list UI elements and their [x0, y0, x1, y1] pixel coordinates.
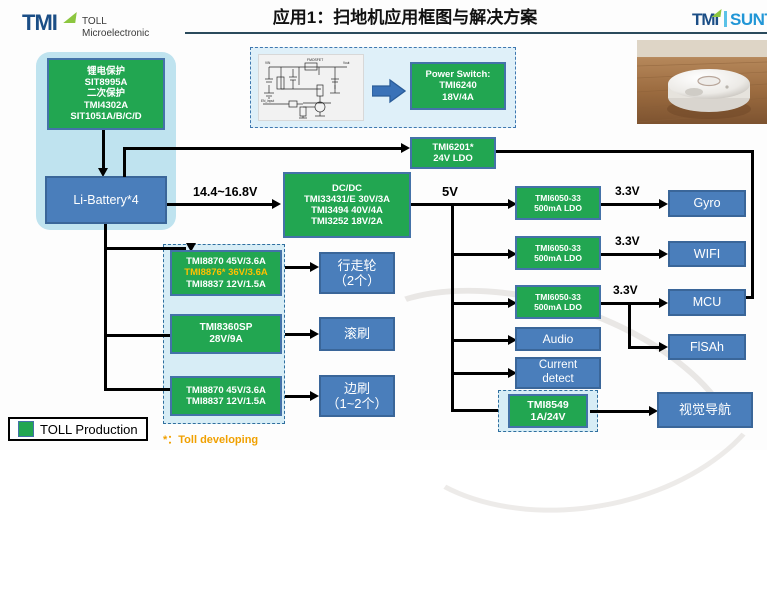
ldo-24v-line-2: 24V LDO	[412, 153, 494, 164]
legend-toll-production: TOLL Production	[8, 417, 148, 441]
logo-left-mark: TMI	[22, 10, 57, 36]
title-rule	[185, 32, 767, 34]
voltage-label-5v: 5V	[442, 184, 458, 199]
load-block-side-brush: 边刷 （1~2个）	[319, 375, 395, 417]
dcdc-line-4: TMI3252 18V/2A	[285, 216, 409, 227]
arrow-to-ldo24	[401, 143, 410, 153]
load-block-mcu: MCU	[668, 289, 746, 316]
vision-driver-line-1: TMI8549	[510, 399, 586, 411]
slide-canvas: 应用1：扫地机应用框图与解决方案 TMI TOLL Microelectroni…	[0, 0, 767, 450]
load-block-wheels: 行走轮 （2个）	[319, 252, 395, 294]
wire-dcdc-5v	[411, 203, 511, 206]
protection-line-4: TMI4302A	[49, 100, 163, 111]
wire-batt-to-dcdc	[167, 203, 274, 206]
protection-line-5: SIT1051A/B/C/D	[49, 111, 163, 122]
wire-5v-to-audio	[451, 339, 511, 342]
load-block-vision-nav: 视觉导航	[657, 392, 753, 428]
wire-ldo24-down	[751, 150, 754, 298]
logo-left-line1: TOLL	[82, 16, 107, 27]
audio-label: Audio	[517, 332, 599, 346]
logo-toll-microelectronic: TMI TOLL Microelectronic	[22, 10, 172, 44]
wheels-line-1: 行走轮	[321, 258, 393, 273]
wire-ldo3-to-mcu	[601, 302, 663, 305]
wire-protection-to-battery	[102, 130, 105, 172]
load-block-gyro: Gyro	[668, 190, 746, 217]
wire-ldo24-right	[496, 150, 754, 153]
driver3-line-2: TMI8837 12V/1.5A	[172, 396, 280, 407]
vision-nav-label: 视觉导航	[659, 402, 751, 417]
wire-batt-to-ldo24	[123, 147, 405, 150]
driver2-line-2: 28V/9A	[172, 334, 280, 346]
wire-3v3-to-flash	[628, 302, 631, 349]
load-block-rolling-brush: 滚刷	[319, 317, 395, 351]
ldo1-line-1: TMI6050-33	[517, 193, 599, 203]
arrow-ldo3-to-mcu	[659, 298, 668, 308]
dcdc-block: DC/DC TMI33431/E 30V/3A TMI3494 40V/4A T…	[283, 172, 411, 238]
wire-driver3-to-load	[285, 395, 313, 398]
flow-arrow-icon	[372, 78, 406, 104]
load-block-flash: FlSAh	[668, 334, 746, 360]
wire-vision-driver-to-load	[590, 410, 652, 413]
block-current-detect: Current detect	[515, 357, 601, 389]
motor-driver-block-2: TMI8360SP 28V/9A	[170, 314, 282, 354]
arrow-ldo2-to-wifi	[659, 249, 668, 259]
logo-right-brand: SUNTO	[730, 10, 767, 30]
ldo1-line-2: 500mA LDO	[517, 203, 599, 213]
rolling-brush-line-1: 滚刷	[321, 326, 393, 341]
wire-batt-up	[123, 147, 126, 177]
page-title: 应用1：扫地机应用框图与解决方案	[190, 6, 620, 30]
wire-flash-branch	[628, 346, 663, 349]
legend-developing-note: *：Toll developing	[163, 431, 258, 447]
voltage-label-3v3-b: 3.3V	[615, 234, 640, 248]
wire-driver1-to-load	[285, 266, 313, 269]
legend-green-swatch	[18, 421, 34, 437]
logo-left-line2: Microelectronic	[82, 28, 149, 39]
motor-driver-block-3: TMI8870 45V/3.6A TMI8837 12V/1.5A	[170, 376, 282, 416]
side-brush-line-2: （1~2个）	[321, 396, 393, 411]
driver2-line-1: TMI8360SP	[172, 322, 280, 334]
vision-driver-block: TMI8549 1A/24V	[508, 394, 588, 428]
power-switch-schematic: FMOSFET VIN Vout EN_input	[258, 54, 364, 121]
mcu-label: MCU	[670, 295, 744, 310]
power-switch-line-3: 18V/4A	[412, 92, 504, 103]
power-switch-chip-block: Power Switch: TMI6240 18V/4A	[410, 62, 506, 110]
ldo-block-2: TMI6050-33 500mA LDO	[515, 236, 601, 270]
wire-5v-to-ldo2	[451, 253, 511, 256]
protection-chip-block: 锂电保护 SIT8995A 二次保护 TMI4302A SIT1051A/B/C…	[47, 58, 165, 130]
wifi-label: WIFI	[670, 247, 744, 262]
svg-text:VIN: VIN	[265, 61, 271, 65]
legend-production-label: TOLL Production	[40, 422, 138, 437]
ldo2-line-1: TMI6050-33	[517, 243, 599, 253]
logo-divider	[724, 11, 727, 27]
robot-vacuum-photo	[637, 40, 767, 124]
arrow-driver2-to-load	[310, 329, 319, 339]
svg-text:Vout: Vout	[343, 61, 349, 65]
flash-label: FlSAh	[670, 340, 744, 355]
power-switch-line-1: Power Switch:	[412, 69, 504, 80]
wire-driver2-to-load	[285, 333, 313, 336]
current-detect-line-2: detect	[517, 373, 599, 387]
dcdc-line-1: DC/DC	[285, 183, 409, 194]
svg-text:EN_input: EN_input	[261, 99, 274, 103]
arrow-to-flash	[659, 342, 668, 352]
leaf-icon-2	[711, 9, 721, 17]
svg-text:FMOSFET: FMOSFET	[307, 58, 323, 62]
dcdc-line-2: TMI33431/E 30V/3A	[285, 194, 409, 205]
arrow-ldo1-to-gyro	[659, 199, 668, 209]
ldo2-line-2: 500mA LDO	[517, 253, 599, 263]
driver3-line-1: TMI8870 45V/3.6A	[172, 385, 280, 396]
arrow-driver1-to-load	[310, 262, 319, 272]
vision-driver-line-2: 1A/24V	[510, 411, 586, 423]
logo-tmi-sunto: TMI SUNTO	[692, 8, 767, 34]
wire-ldo1-to-gyro	[601, 203, 663, 206]
side-brush-line-1: 边刷	[321, 381, 393, 396]
ldo3-line-2: 500mA LDO	[517, 302, 599, 312]
voltage-label-battery-out: 14.4~16.8V	[193, 185, 257, 199]
ldo-24v-line-1: TMI6201*	[412, 142, 494, 153]
driver1-line-1: TMI8870 45V/3.6A	[172, 256, 280, 267]
protection-line-3: 二次保护	[49, 88, 163, 99]
leaf-icon	[63, 12, 77, 23]
wire-5v-bus	[451, 203, 454, 411]
ldo-24v-block: TMI6201* 24V LDO	[410, 137, 496, 169]
dcdc-line-3: TMI3494 40V/4A	[285, 205, 409, 216]
block-audio: Audio	[515, 327, 601, 351]
voltage-label-3v3-a: 3.3V	[615, 184, 640, 198]
arrow-batt-to-dcdc	[272, 199, 281, 209]
protection-line-2: SIT8995A	[49, 77, 163, 88]
arrow-driver3-to-load	[310, 391, 319, 401]
current-detect-line-1: Current	[517, 359, 599, 373]
load-block-wifi: WIFI	[668, 241, 746, 267]
li-battery-label: Li-Battery*4	[47, 193, 165, 208]
voltage-label-3v3-c: 3.3V	[613, 283, 638, 297]
driver1-line-3: TMI8837 12V/1.5A	[172, 279, 280, 290]
gyro-label: Gyro	[670, 196, 744, 211]
ldo-block-1: TMI6050-33 500mA LDO	[515, 186, 601, 220]
driver1-line-2: TMI8876* 36V/3.6A	[172, 267, 280, 278]
wheels-line-2: （2个）	[321, 273, 393, 288]
wire-5v-to-current-detect	[451, 372, 511, 375]
ldo-block-3: TMI6050-33 500mA LDO	[515, 285, 601, 319]
power-switch-line-2: TMI6240	[412, 80, 504, 91]
wire-ldo2-to-wifi	[601, 253, 663, 256]
ldo3-line-1: TMI6050-33	[517, 292, 599, 302]
motor-driver-block-1: TMI8870 45V/3.6A TMI8876* 36V/3.6A TMI88…	[170, 250, 282, 296]
protection-line-1: 锂电保护	[49, 66, 163, 77]
li-battery-block: Li-Battery*4	[45, 176, 167, 224]
wire-5v-to-ldo3	[451, 302, 511, 305]
